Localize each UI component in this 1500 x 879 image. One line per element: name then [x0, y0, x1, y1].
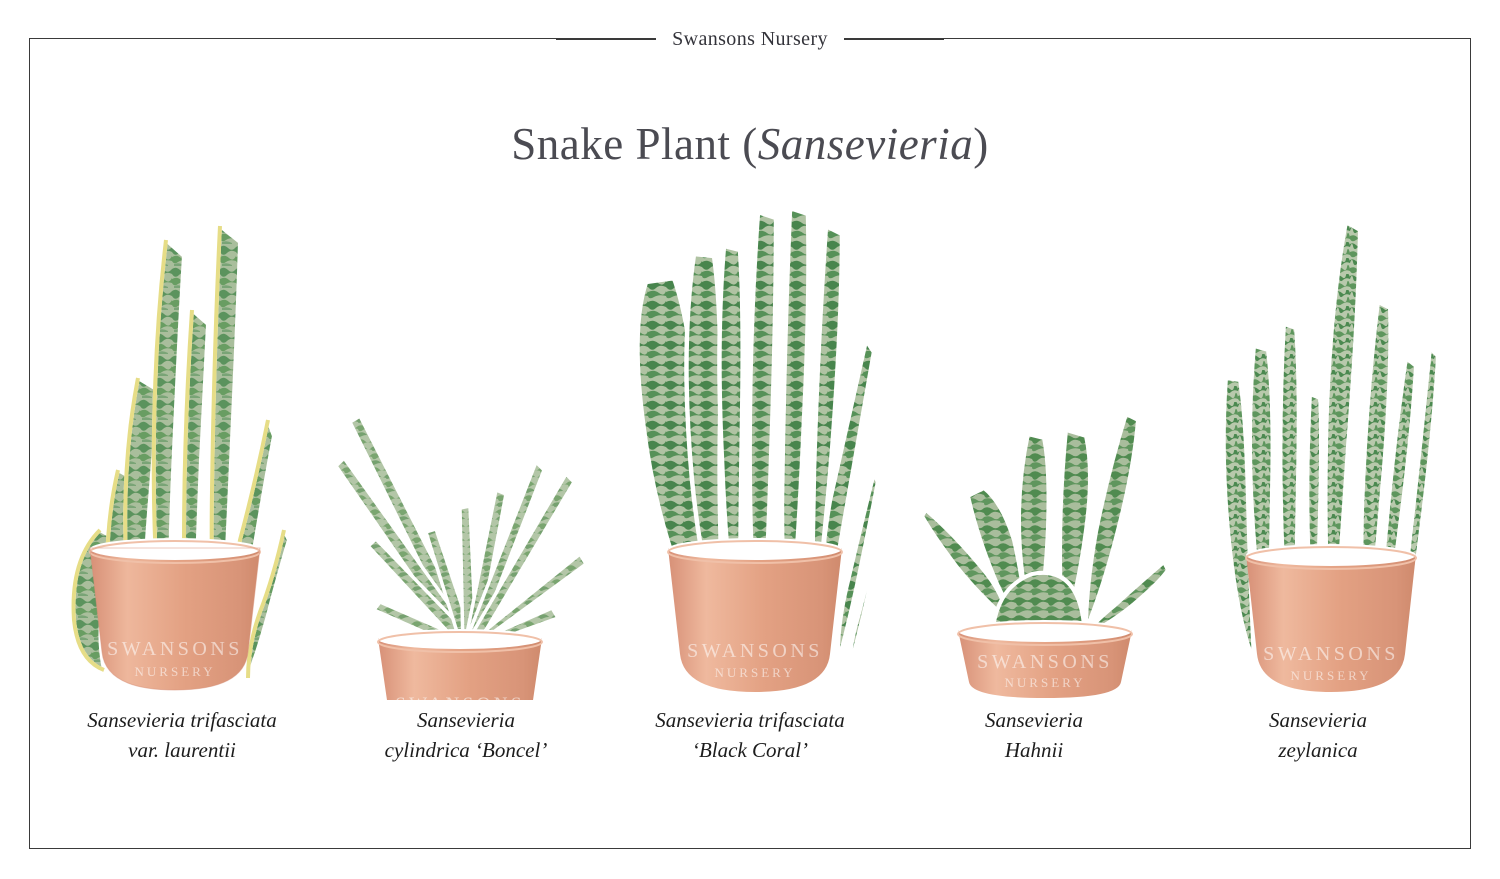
plant-label-line: cylindrica ‘Boncel’	[326, 736, 606, 766]
plant-label-line: Sansevieria trifasciata	[610, 706, 890, 736]
plant-label-line: var. laurentii	[42, 736, 322, 766]
poster-canvas: Swansons Nursery Snake Plant (Sansevieri…	[0, 0, 1500, 879]
svg-text:SWANSONS: SWANSONS	[977, 651, 1113, 673]
plant-label-row: Sansevieria trifasciata var. laurentii S…	[40, 706, 1460, 766]
page-title-prefix: Snake Plant (	[511, 119, 757, 169]
plant-illustration-laurentii: SWANSONS NURSERY	[60, 200, 290, 700]
plant-label-black-coral: Sansevieria trifasciata ‘Black Coral’	[610, 706, 890, 766]
plant-card-hahnii: SWANSONS NURSERY	[920, 190, 1170, 700]
leaf-group-cylindrica	[336, 416, 586, 650]
plant-label-line: Sansevieria	[326, 706, 606, 736]
plant-illustration-zeylanica: SWANSONS NURSERY	[1210, 210, 1440, 700]
plant-label-line: Sansevieria trifasciata	[42, 706, 322, 736]
page-title: Snake Plant (Sansevieria)	[0, 118, 1500, 170]
plant-label-zeylanica: Sansevieria zeylanica	[1178, 706, 1458, 766]
masthead-rule-right	[844, 38, 944, 40]
plant-label-line: Hahnii	[894, 736, 1174, 766]
svg-text:NURSERY: NURSERY	[1291, 668, 1372, 683]
svg-text:SWANSONS: SWANSONS	[107, 638, 243, 660]
plant-label-line: Sansevieria	[1178, 706, 1458, 736]
masthead-rule-left	[556, 38, 656, 40]
plant-illustration-cylindrica-boncel: SWANSONS NURSERY	[330, 340, 590, 700]
plant-label-laurentii: Sansevieria trifasciata var. laurentii	[42, 706, 322, 766]
plant-illustration-row: SWANSONS NURSERY	[40, 190, 1460, 700]
plant-illustration-black-coral: SWANSONS NURSERY	[630, 200, 880, 700]
brand-name: Swansons Nursery	[656, 28, 844, 51]
plant-card-cylindrica-boncel: SWANSONS NURSERY	[330, 190, 590, 700]
leaf-group-hahnii	[922, 414, 1168, 652]
plant-card-zeylanica: SWANSONS NURSERY	[1210, 190, 1440, 700]
plant-label-line: zeylanica	[1178, 736, 1458, 766]
svg-text:NURSERY: NURSERY	[715, 665, 796, 680]
svg-text:SWANSONS: SWANSONS	[395, 694, 525, 700]
svg-text:NURSERY: NURSERY	[135, 664, 216, 679]
plant-label-hahnii: Sansevieria Hahnii	[894, 706, 1174, 766]
watermark-cylindrica: SWANSONS NURSERY	[395, 694, 525, 700]
plant-label-line: ‘Black Coral’	[610, 736, 890, 766]
plant-illustration-hahnii: SWANSONS NURSERY	[920, 380, 1170, 700]
svg-text:NURSERY: NURSERY	[1005, 675, 1086, 690]
plant-card-laurentii: SWANSONS NURSERY	[60, 190, 290, 700]
plant-label-line: Sansevieria	[894, 706, 1174, 736]
page-title-suffix: )	[973, 119, 989, 169]
svg-text:SWANSONS: SWANSONS	[1263, 643, 1399, 665]
plant-card-black-coral: SWANSONS NURSERY	[630, 190, 880, 700]
page-title-genus: Sansevieria	[758, 119, 973, 169]
plant-label-cylindrica-boncel: Sansevieria cylindrica ‘Boncel’	[326, 706, 606, 766]
masthead: Swansons Nursery	[0, 26, 1500, 52]
pot-cylindrica	[378, 629, 542, 700]
svg-text:SWANSONS: SWANSONS	[687, 640, 823, 662]
